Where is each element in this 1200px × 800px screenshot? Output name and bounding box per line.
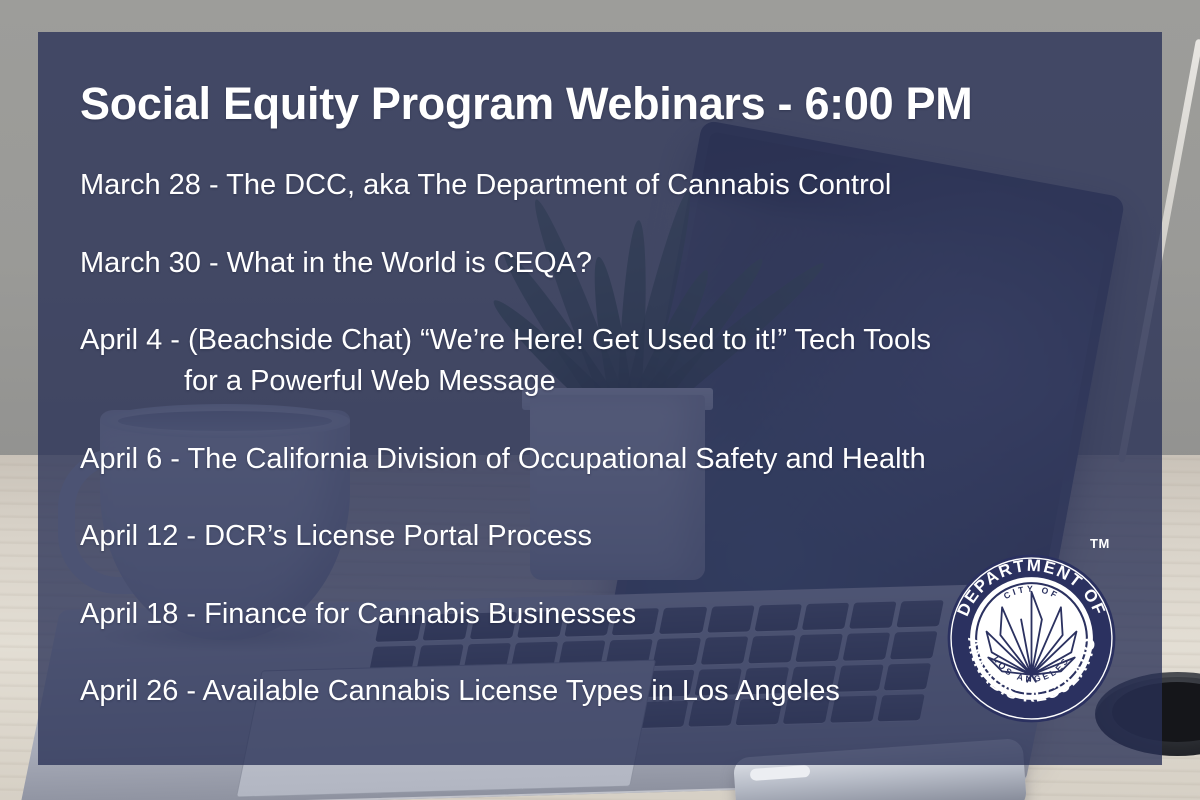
- webinar-title: April 26 - Available Cannabis License Ty…: [80, 675, 840, 707]
- webinar-list-item: March 28 - The DCC, aka The Department o…: [80, 169, 1142, 203]
- page-title: Social Equity Program Webinars - 6:00 PM: [80, 78, 972, 130]
- flyer-canvas: Social Equity Program Webinars - 6:00 PM…: [0, 0, 1200, 800]
- webinar-title: March 30 - What in the World is CEQA?: [80, 247, 592, 279]
- dcr-seal-logo: DEPARTMENT OF CANNABIS REGULATION CITY O…: [945, 552, 1118, 725]
- webinar-title: April 18 - Finance for Cannabis Business…: [80, 598, 636, 630]
- webinar-list-item: April 6 - The California Division of Occ…: [80, 443, 1142, 477]
- webinar-title-continuation: for a Powerful Web Message: [80, 365, 1142, 399]
- webinar-list-item: April 4 - (Beachside Chat) “We’re Here! …: [80, 324, 1142, 398]
- webinar-title: April 12 - DCR’s License Portal Process: [80, 520, 592, 552]
- webinar-list-item: March 30 - What in the World is CEQA?: [80, 247, 1142, 281]
- webinar-title: March 28 - The DCC, aka The Department o…: [80, 169, 891, 201]
- webinar-title: April 6 - The California Division of Occ…: [80, 443, 926, 475]
- trademark-mark: TM: [1090, 536, 1110, 551]
- webinar-list-item: April 12 - DCR’s License Portal Process: [80, 520, 1142, 554]
- webinar-title: April 4 - (Beachside Chat) “We’re Here! …: [80, 324, 931, 356]
